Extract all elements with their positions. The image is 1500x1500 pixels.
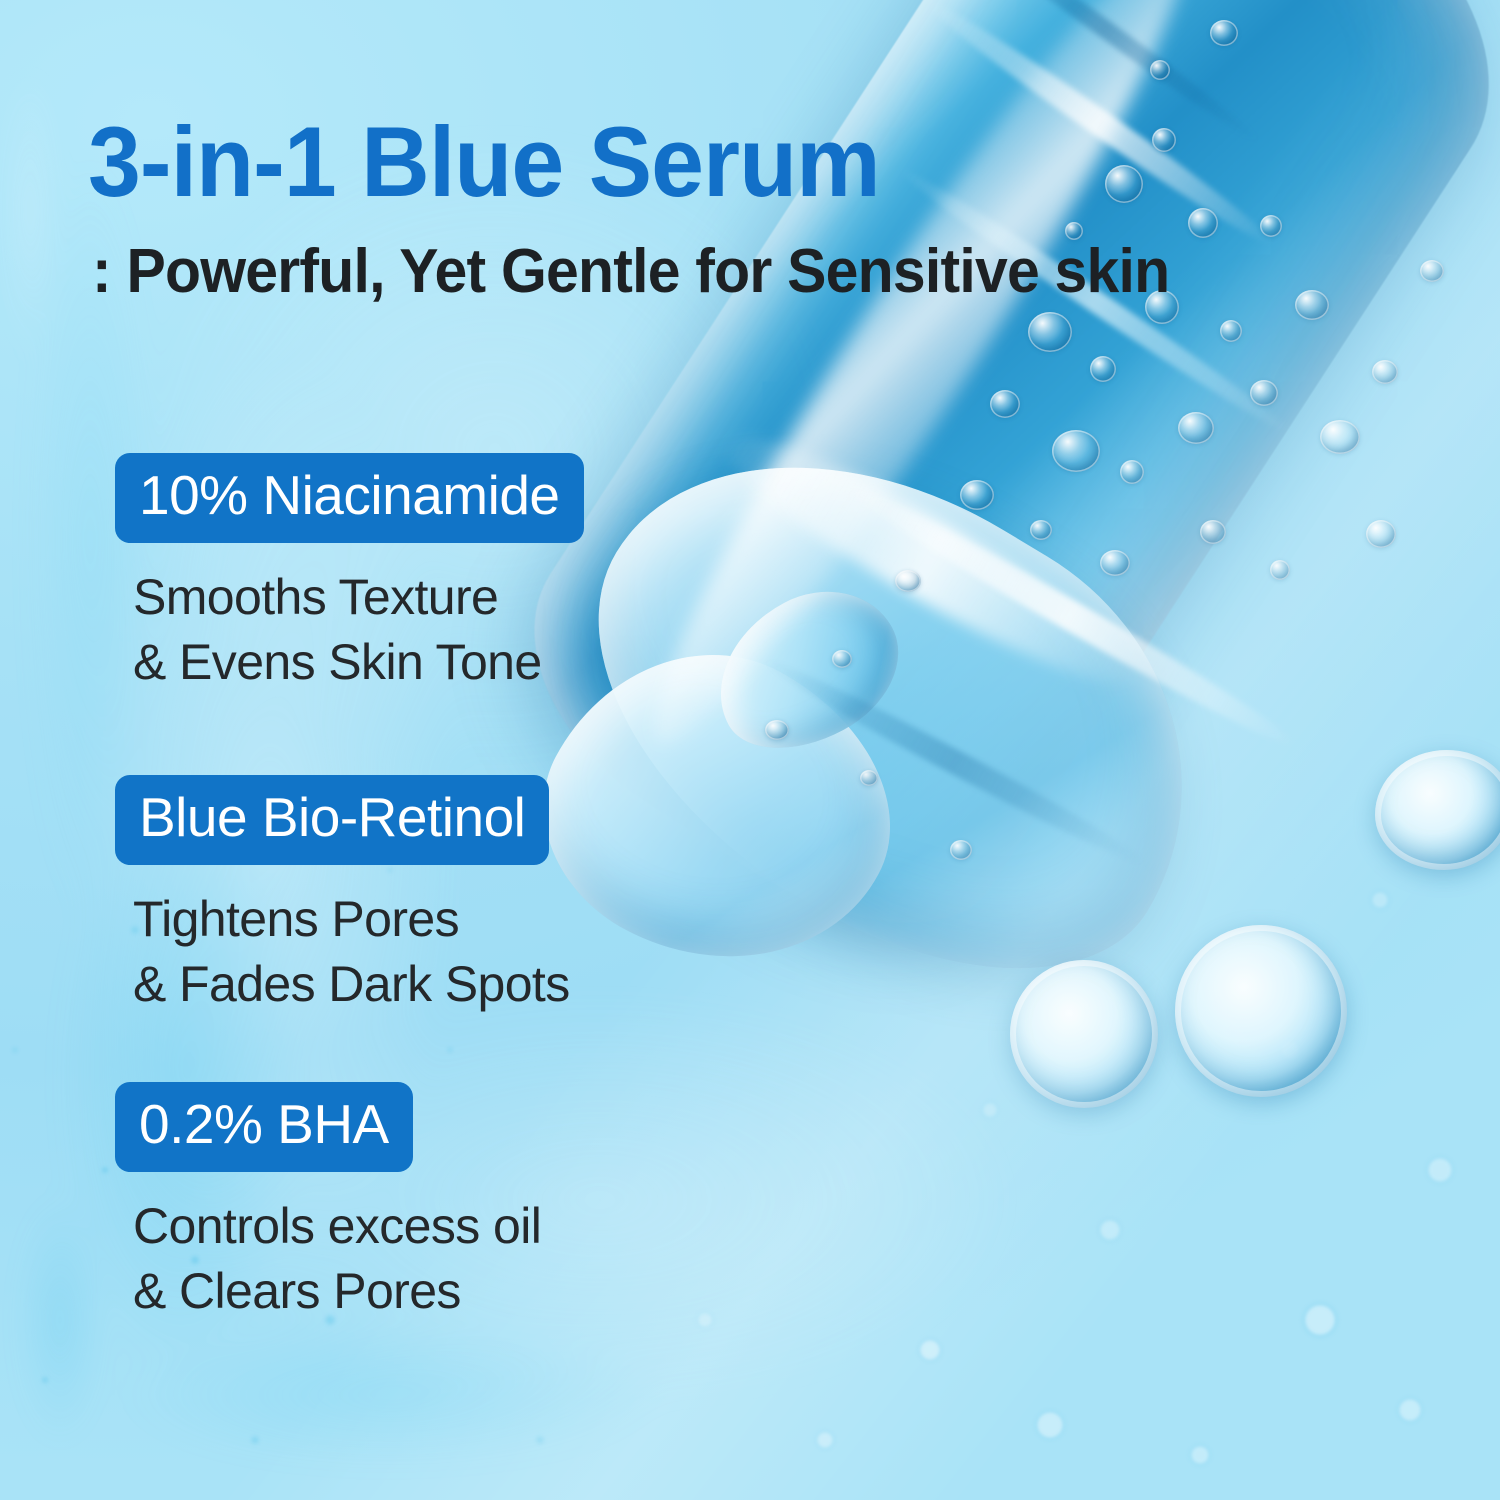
ingredient-badge-blue-bio-retinol: Blue Bio-Retinol: [115, 775, 549, 865]
product-infographic: 3-in-1 Blue Serum : Powerful, Yet Gentle…: [0, 0, 1500, 1500]
feature-description-niacinamide: Smooths Texture & Evens Skin Tone: [133, 565, 584, 695]
page-subtitle: : Powerful, Yet Gentle for Sensitive ski…: [92, 236, 1169, 307]
feature-description-line: Tightens Pores: [133, 887, 570, 952]
ingredient-badge-bha: 0.2% BHA: [115, 1082, 413, 1172]
feature-description-line: & Fades Dark Spots: [133, 952, 570, 1017]
feature-description-bha: Controls excess oil & Clears Pores: [133, 1194, 541, 1324]
feature-block-niacinamide: 10% Niacinamide Smooths Texture & Evens …: [115, 453, 584, 695]
feature-description-line: Controls excess oil: [133, 1194, 541, 1259]
page-title: 3-in-1 Blue Serum: [88, 112, 880, 213]
feature-description-line: & Clears Pores: [133, 1259, 541, 1324]
feature-block-blue-bio-retinol: Blue Bio-Retinol Tightens Pores & Fades …: [115, 775, 570, 1017]
ingredient-badge-niacinamide: 10% Niacinamide: [115, 453, 584, 543]
feature-description-blue-bio-retinol: Tightens Pores & Fades Dark Spots: [133, 887, 570, 1017]
feature-block-bha: 0.2% BHA Controls excess oil & Clears Po…: [115, 1082, 541, 1324]
feature-description-line: Smooths Texture: [133, 565, 584, 630]
feature-description-line: & Evens Skin Tone: [133, 630, 584, 695]
